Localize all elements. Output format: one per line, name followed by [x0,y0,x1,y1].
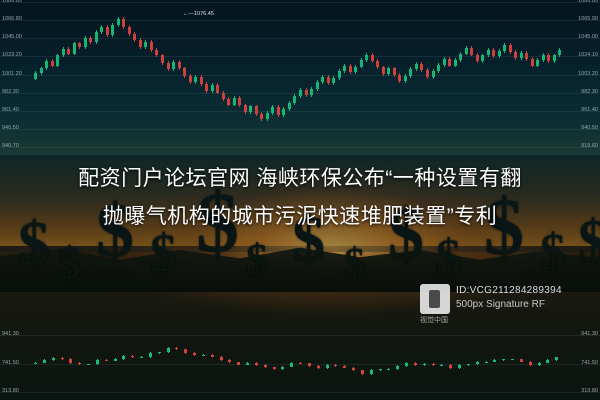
candle-wick [107,25,108,37]
candle-wick [530,361,531,366]
candle-wick [294,94,295,104]
candle-wick [554,54,555,63]
candle-wick [168,61,169,71]
candle-wick [333,76,334,85]
candle-wick [289,101,290,111]
y-axis-label-right: 919.60 [581,143,598,149]
y-axis-label-right: 961.40 [581,107,598,113]
candle-wick [366,53,367,62]
candle-wick [101,25,102,34]
candle-wick [388,368,389,370]
chart-gridline [0,364,600,365]
bottom-candlestick-chart: 941.30941.30741.50741.50313.80313.80 [0,333,600,400]
candle-wick [179,60,180,70]
candle-wick [503,359,504,361]
candle-wick [85,36,86,49]
candle-wick [53,357,54,361]
candle-wick [96,30,97,44]
caption-line-1: 配资门户论坛官网 海峡环保公布“一种设置有翻 [0,160,600,198]
candle-wick [140,38,141,49]
chart-annotation-marker: ←—1076.45 [183,11,214,17]
candle-wick [176,347,177,350]
candle-wick [90,36,91,44]
candle-wick [350,64,351,74]
candle-wick [459,364,460,368]
candle-wick [70,358,71,364]
y-axis-label-left: 940.50 [2,125,19,131]
candle-wick [173,60,174,71]
candle-wick [477,361,478,365]
image-stage: $$$$$$$$$$$$$ 1086.801086.801066.801065.… [0,0,600,400]
candle-wick [159,352,160,354]
y-axis-label-left: 940.70 [2,143,19,149]
y-axis-label-right: 313.80 [581,388,598,394]
candle-wick [282,366,283,370]
candle-wick [433,69,434,78]
chart-gridline [0,335,600,336]
candle-wick [438,63,439,73]
y-axis-label-right: 741.50 [581,360,598,366]
candle-wick [162,54,163,65]
candle-wick [74,42,75,56]
candle-wick [477,53,478,63]
candle-wick [405,74,406,83]
y-axis-label-left: 961.40 [2,107,19,113]
candle-wick [221,356,222,361]
candle-wick [112,23,113,37]
candle-wick [195,75,196,84]
y-axis-label-left: 1001.20 [2,71,22,77]
candle-wick [261,112,262,121]
candle-wick [238,362,239,366]
candle-wick [499,49,500,58]
candle-wick [559,48,560,57]
candle-wick [362,370,363,375]
candle-wick [309,363,310,367]
candle-wick [380,369,381,371]
candle-wick [504,43,505,52]
chart-gridline [0,111,600,112]
candle-wick [201,75,202,86]
candle-wick [283,107,284,116]
candle-wick [548,53,549,63]
candle-wick [291,362,292,367]
caption-line-2: 抛曝气机构的城市污泥快速堆肥装置”专利 [0,198,600,236]
candle-wick [239,96,240,107]
y-axis-label-left: 1023.20 [2,52,22,58]
candle-wick [311,87,312,97]
candle-wick [399,73,400,83]
chart-gridline [0,2,600,3]
candle-wick [339,69,340,79]
candle-wick [460,52,461,62]
chart-gridline [0,129,600,130]
candle-wick [256,362,257,366]
chart-gridline [0,20,600,21]
candle-wick [168,347,169,353]
candle-wick [494,359,495,362]
candle-wick [245,104,246,114]
chart-gridline [0,75,600,76]
candle-wick [493,48,494,58]
candle-wick [184,67,185,78]
candle-wick [355,65,356,74]
candle-wick [185,349,186,354]
candle-wick [371,369,372,374]
candle-wick [265,364,266,368]
photo-logo-icon [420,284,450,314]
candle-wick [300,88,301,98]
y-axis-label-right: 1003.20 [578,71,598,77]
candle-wick [361,58,362,68]
candle-wick [115,358,116,361]
candle-wick [394,67,395,77]
candle-wick [427,68,428,78]
candle-wick [228,97,229,106]
candle-wick [397,365,398,369]
candle-wick [190,74,191,84]
y-axis-label-right: 1024.10 [578,52,598,58]
candle-wick [317,80,318,90]
candle-wick [450,364,451,369]
candle-wick [335,364,336,367]
candle-wick [466,46,467,55]
candle-wick [344,64,345,73]
y-axis-label-right: 1086.80 [578,0,598,4]
candle-wick [537,58,538,67]
candle-wick [234,96,235,106]
candle-wick [441,364,442,366]
candle-wick [123,17,124,28]
candle-wick [410,67,411,77]
candle-wick [132,355,133,358]
candle-wick [515,50,516,60]
candle-wick [52,59,53,67]
candle-wick [57,54,58,68]
candle-wick [486,361,487,363]
candle-wick [416,62,417,71]
candle-wick [468,364,469,366]
candle-wick [328,75,329,85]
candle-wick [229,359,230,363]
candle-wick [353,367,354,371]
candle-wick [217,83,218,94]
candle-wick [212,354,213,357]
candle-wick [471,46,472,56]
chart-gridline [0,56,600,57]
y-axis-label-left: 1045.00 [2,34,22,40]
candle-wick [88,364,89,366]
y-axis-label-left: 1086.80 [2,0,22,4]
candle-wick [406,362,407,367]
candle-wick [327,364,328,368]
candle-wick [156,48,157,57]
y-axis-label-right: 1045.00 [578,34,598,40]
caption-text: 配资门户论坛官网 海峡环保公布“一种设置有翻 抛曝气机构的城市污泥快速堆肥装置”… [0,160,600,236]
y-axis-label-right: 940.50 [581,125,598,131]
candle-wick [306,88,307,97]
y-axis-label-left: 313.80 [2,388,19,394]
candle-wick [123,355,124,360]
candle-wick [267,111,268,121]
candle-wick [424,363,425,366]
candle-wick [79,42,80,49]
candle-wick [421,62,422,72]
watermark-cn-label: 视觉中国 [420,315,448,325]
top-candlestick-chart: 1086.801086.801066.801065.901045.001045.… [0,0,600,155]
candle-wick [278,105,279,116]
candle-wick [300,362,301,364]
candle-wick [145,40,146,49]
candle-wick [532,57,533,67]
y-axis-label-right: 982.30 [581,89,598,95]
candle-wick [322,75,323,84]
candle-wick [41,67,42,75]
candle-wick [129,25,130,36]
candle-wick [543,53,544,62]
candle-wick [482,54,483,63]
candle-wick [150,352,151,357]
candle-wick [274,367,275,370]
candle-wick [444,57,445,66]
candle-wick [547,359,548,363]
y-axis-label-right: 1065.90 [578,16,598,22]
candle-wick [35,71,36,80]
candle-wick [206,82,207,92]
candle-wick [151,40,152,52]
candle-wick [556,357,557,361]
y-axis-label-right: 941.30 [581,331,598,337]
candle-wick [415,362,416,366]
candle-wick [383,66,384,76]
candle-wick [344,365,345,368]
candle-wick [97,359,98,365]
candle-wick [521,359,522,363]
candle-wick [449,57,450,67]
candle-wick [526,51,527,61]
watermark: ID:VCG211284289394 500px Signature RF 视觉… [420,284,590,318]
y-axis-label-left: 941.30 [2,331,19,337]
candle-wick [35,362,36,364]
candle-wick [118,17,119,26]
candle-wick [46,59,47,70]
y-axis-label-left: 1066.80 [2,16,22,22]
candle-wick [250,105,251,114]
candle-wick [134,32,135,41]
candle-wick [63,47,64,57]
candle-wick [488,48,489,57]
candle-wick [62,357,63,360]
y-axis-label-left: 741.50 [2,360,19,366]
candle-wick [521,51,522,60]
candle-wick [141,356,142,358]
watermark-subtitle: 500px Signature RF [456,299,545,310]
candle-wick [433,363,434,366]
candle-wick [212,83,213,92]
candle-wick [510,43,511,53]
candle-wick [79,362,80,365]
candle-wick [377,59,378,69]
candle-wick [106,359,107,361]
candle-wick [68,47,69,55]
candle-wick [256,105,257,116]
candle-wick [203,354,204,356]
watermark-id: ID:VCG211284289394 [456,285,562,296]
candle-wick [512,359,513,361]
candle-wick [539,362,540,366]
chart-gridline [0,392,600,393]
candle-wick [388,67,389,76]
candle-wick [44,359,45,363]
chart-gridline [0,147,600,148]
candle-wick [372,53,373,63]
candle-wick [318,365,319,368]
candle-wick [194,352,195,356]
candle-wick [455,58,456,67]
candle-wick [223,91,224,101]
candle-wick [247,362,248,365]
candle-wick [272,105,273,114]
y-axis-label-left: 982.30 [2,89,19,95]
